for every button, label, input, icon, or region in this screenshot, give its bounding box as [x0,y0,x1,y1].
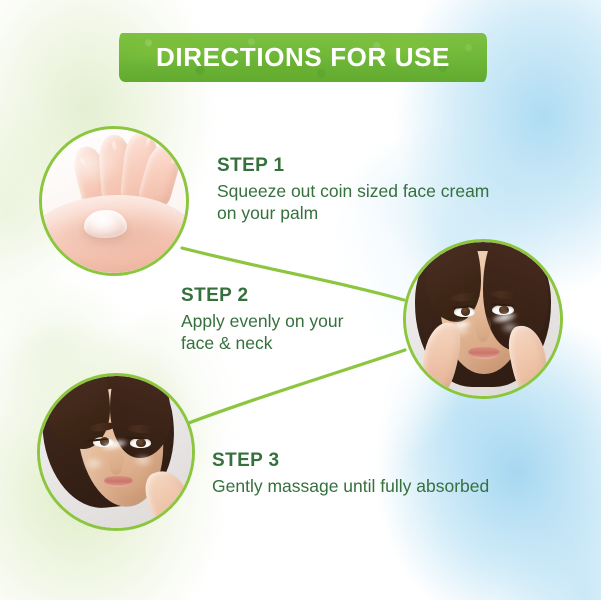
hands-illustration [42,129,186,273]
woman-massaging-face-photo [40,376,192,528]
eye-right [130,438,151,448]
face-illustration [40,376,192,528]
hands-with-cream-photo [42,129,186,273]
lips [468,347,500,359]
step-3-label: STEP 3 [212,450,572,472]
step-2-description: Apply evenly on your face & neck [181,310,441,355]
step-2-label: STEP 2 [181,285,441,307]
lips [104,476,133,487]
step-3-description: Gently massage until fully absorbed [212,475,572,497]
page-title: DIRECTIONS FOR USE [119,33,487,82]
step-1-photo-circle [39,126,189,276]
nail-4 [171,156,179,165]
cheek-highlight-left [81,455,107,472]
step-3-photo-circle [37,373,195,531]
step-3-text-block: STEP 3 Gently massage until fully absorb… [212,450,572,497]
step-2-text-block: STEP 2 Apply evenly on your face & neck [181,285,441,355]
hand-highlight [51,141,140,207]
step-1-label: STEP 1 [217,155,517,177]
iris-right [136,439,145,447]
step-1-description: Squeeze out coin sized face cream on you… [217,180,517,225]
step-1-text-block: STEP 1 Squeeze out coin sized face cream… [217,155,517,225]
header-banner: DIRECTIONS FOR USE [119,33,487,82]
cheek-highlight-right [130,452,156,469]
directions-for-use-infographic: DIRECTIONS FOR USE [0,0,601,600]
connector-step2-step3-line [186,350,405,424]
nail-3 [144,137,150,148]
iris-left [461,307,470,316]
cream-dollop [84,210,127,239]
